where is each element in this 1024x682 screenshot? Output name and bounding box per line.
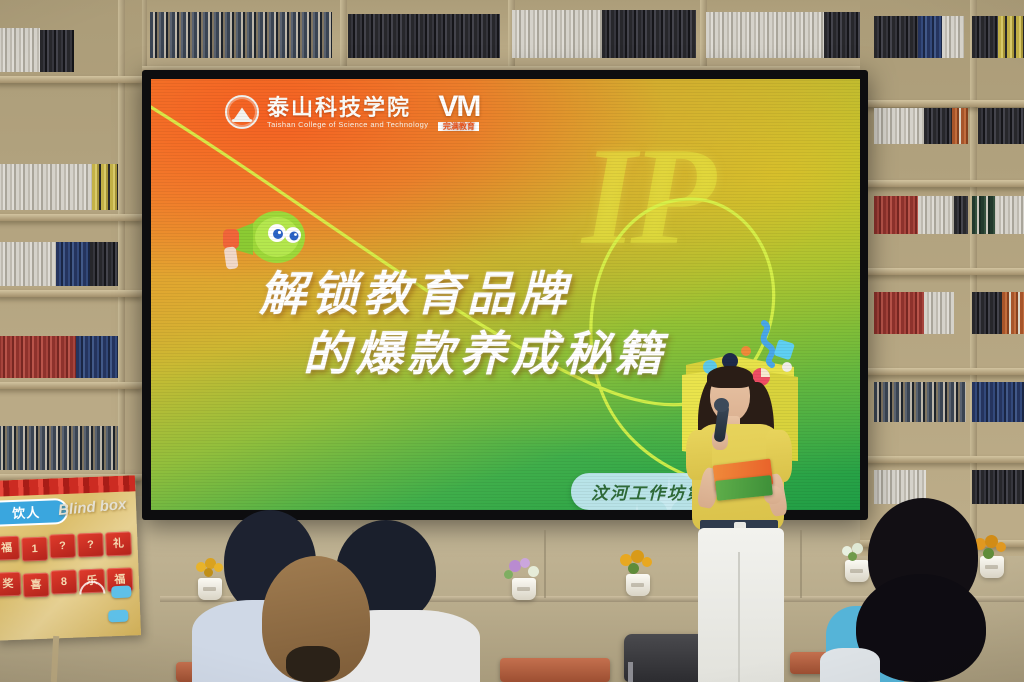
poster-card[interactable]: 1: [21, 537, 48, 562]
mountain-seal-icon: [225, 95, 259, 129]
microphone-head-icon: [714, 398, 729, 412]
poster-card[interactable]: 奖: [0, 572, 21, 597]
ledge-seam-c: [800, 530, 802, 598]
poster-chip-a: [111, 585, 131, 598]
poster-card[interactable]: ?: [77, 533, 104, 558]
bookshelf-left: [0, 0, 142, 496]
poster-card[interactable]: 8: [50, 570, 77, 595]
chair-leg-a: [628, 662, 633, 682]
poster-card[interactable]: 福: [0, 536, 20, 561]
vm-letters: VM: [438, 90, 479, 123]
bookshelf-top: [140, 0, 880, 74]
poster-chip-b: [108, 610, 128, 623]
poster-card[interactable]: 喜: [23, 573, 50, 598]
vm-brand-sub: 完满教育: [438, 122, 479, 131]
slide-title-line1: 解锁教育品牌: [259, 269, 571, 321]
poster-card[interactable]: 礼: [105, 531, 132, 556]
poster-title: Blind box: [57, 496, 127, 519]
poster-card[interactable]: ?: [49, 534, 76, 559]
screenshot-root: IP 泰山科技学院 Taishan College of Science and…: [0, 0, 1024, 682]
blind-box-poster[interactable]: 饮人 Blind box 福 1 ? ? 礼 奖 喜 8 乐 福: [0, 475, 141, 640]
bookshelf-right: [860, 0, 1024, 556]
logo-cn-name: 泰山科技学院: [267, 96, 428, 119]
chair-seat-left[interactable]: [500, 658, 610, 682]
slide-logo: 泰山科技学院 Taishan College of Science and Te…: [225, 93, 479, 131]
logo-en-name: Taishan College of Science and Technolog…: [267, 121, 428, 129]
vm-brand-mark: VM 完满教育: [438, 93, 479, 131]
ledge-seam-b: [544, 530, 546, 598]
